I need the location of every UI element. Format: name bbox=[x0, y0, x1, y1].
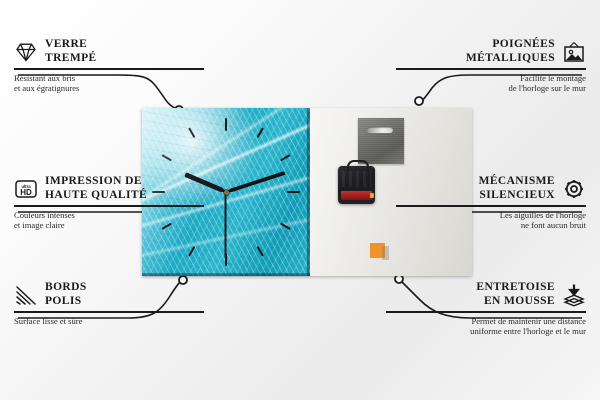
divider bbox=[396, 68, 586, 70]
metal-hanger-plate bbox=[358, 118, 404, 164]
divider bbox=[14, 205, 204, 207]
mechanism-texture bbox=[342, 171, 371, 187]
feature-title: POIGNÉES MÉTALLIQUES bbox=[466, 38, 555, 65]
divider bbox=[14, 68, 204, 70]
svg-text:HD: HD bbox=[20, 188, 32, 197]
foam-spacer bbox=[370, 243, 385, 258]
feature-header: ENTRETOISE EN MOUSSE bbox=[386, 281, 586, 308]
feature-title: MÉCANISME SILENCIEUX bbox=[479, 175, 555, 202]
feature-description: Résistant aux bris et aux égratignures bbox=[14, 73, 204, 94]
feature-description: Surface lisse et sûre bbox=[14, 316, 204, 326]
feature-header: POIGNÉES MÉTALLIQUES bbox=[396, 38, 586, 65]
divider bbox=[14, 311, 204, 313]
feature-bords-polis: BORDS POLIS Surface lisse et sûre bbox=[14, 281, 204, 326]
feature-description: Facilite le montage de l'horloge sur le … bbox=[396, 73, 586, 94]
divider bbox=[396, 205, 586, 207]
feature-description: Les aiguilles de l'horloge ne font aucun… bbox=[396, 210, 586, 231]
feature-title: ENTRETOISE EN MOUSSE bbox=[476, 281, 555, 308]
anchor-dot-poignees bbox=[415, 97, 423, 105]
feature-header: MÉCANISME SILENCIEUX bbox=[396, 175, 586, 202]
foam-spacer-icon bbox=[562, 283, 586, 307]
feature-header: BORDS POLIS bbox=[14, 281, 204, 308]
panel-edge-bottom bbox=[142, 273, 310, 276]
feature-description: Couleurs intenses et image claire bbox=[14, 210, 204, 231]
divider bbox=[386, 311, 586, 313]
ultra-hd-icon: ultra HD bbox=[14, 177, 38, 201]
feature-title: BORDS POLIS bbox=[45, 281, 87, 308]
feature-verre-trempe: VERRE TREMPÉ Résistant aux bris et aux é… bbox=[14, 38, 204, 93]
infographic-canvas: VERRE TREMPÉ Résistant aux bris et aux é… bbox=[0, 0, 600, 400]
feature-header: VERRE TREMPÉ bbox=[14, 38, 204, 65]
diamond-icon bbox=[14, 40, 38, 64]
feature-impression-haute-qualite: ultra HD IMPRESSION DE HAUTE QUALITÉ Cou… bbox=[14, 175, 204, 230]
picture-hanger-icon bbox=[562, 40, 586, 64]
feature-title: IMPRESSION DE HAUTE QUALITÉ bbox=[45, 175, 147, 202]
polished-edge-icon bbox=[14, 283, 38, 307]
gear-icon bbox=[562, 177, 586, 201]
clock-mechanism bbox=[338, 166, 375, 204]
feature-poignees-metalliques: POIGNÉES MÉTALLIQUES Facilite le montage… bbox=[396, 38, 586, 93]
battery bbox=[341, 191, 372, 200]
feature-description: Permet de maintenir une distance uniform… bbox=[386, 316, 586, 337]
feature-entretoise-en-mousse: ENTRETOISE EN MOUSSE Permet de maintenir… bbox=[386, 281, 586, 336]
feature-header: ultra HD IMPRESSION DE HAUTE QUALITÉ bbox=[14, 175, 204, 202]
feature-title: VERRE TREMPÉ bbox=[45, 38, 97, 65]
feature-mecanisme-silencieux: MÉCANISME SILENCIEUX Les aiguilles de l'… bbox=[396, 175, 586, 230]
mechanism-hook bbox=[347, 160, 369, 171]
hanger-slot bbox=[367, 127, 393, 133]
